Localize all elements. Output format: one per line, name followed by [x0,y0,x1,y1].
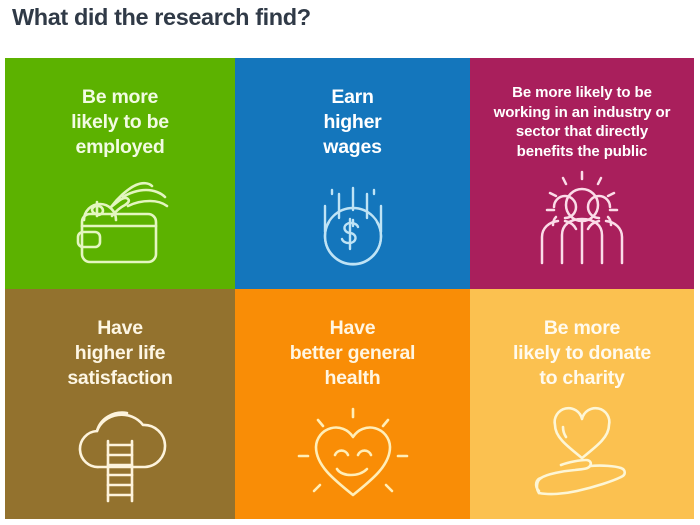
tile-employed-heading: Be more likely to be employed [12,85,228,160]
findings-grid: Be more likely to be employed [5,58,694,519]
tile-public-benefit: Be more likely to be working in an indus… [470,58,694,289]
tile-general-health-heading: Have better general health [242,316,463,391]
falling-dollar-coin-icon [235,170,470,274]
tile-general-health: Have better general health [235,289,470,520]
tile-public-benefit-heading: Be more likely to be working in an indus… [477,83,688,161]
page-title: What did the research find? [12,2,672,32]
tile-donate-charity: Be more likely to donate to charity [470,289,694,520]
tile-life-satisfaction-heading: Have higher life satisfaction [12,316,228,391]
hand-holding-heart-icon [470,401,694,505]
tile-wages-heading: Earn higher wages [242,85,463,160]
hand-coin-wallet-icon [5,170,235,266]
tile-wages: Earn higher wages [235,58,470,289]
ladder-to-cloud-icon [5,401,235,505]
smiling-heart-icon [235,401,470,507]
tile-life-satisfaction: Have higher life satisfaction [5,289,235,520]
tile-donate-charity-heading: Be more likely to donate to charity [477,316,688,391]
group-of-people-icon [470,163,694,267]
tile-employed: Be more likely to be employed [5,58,235,289]
infographic-page: What did the research find? Be more like… [0,0,700,525]
